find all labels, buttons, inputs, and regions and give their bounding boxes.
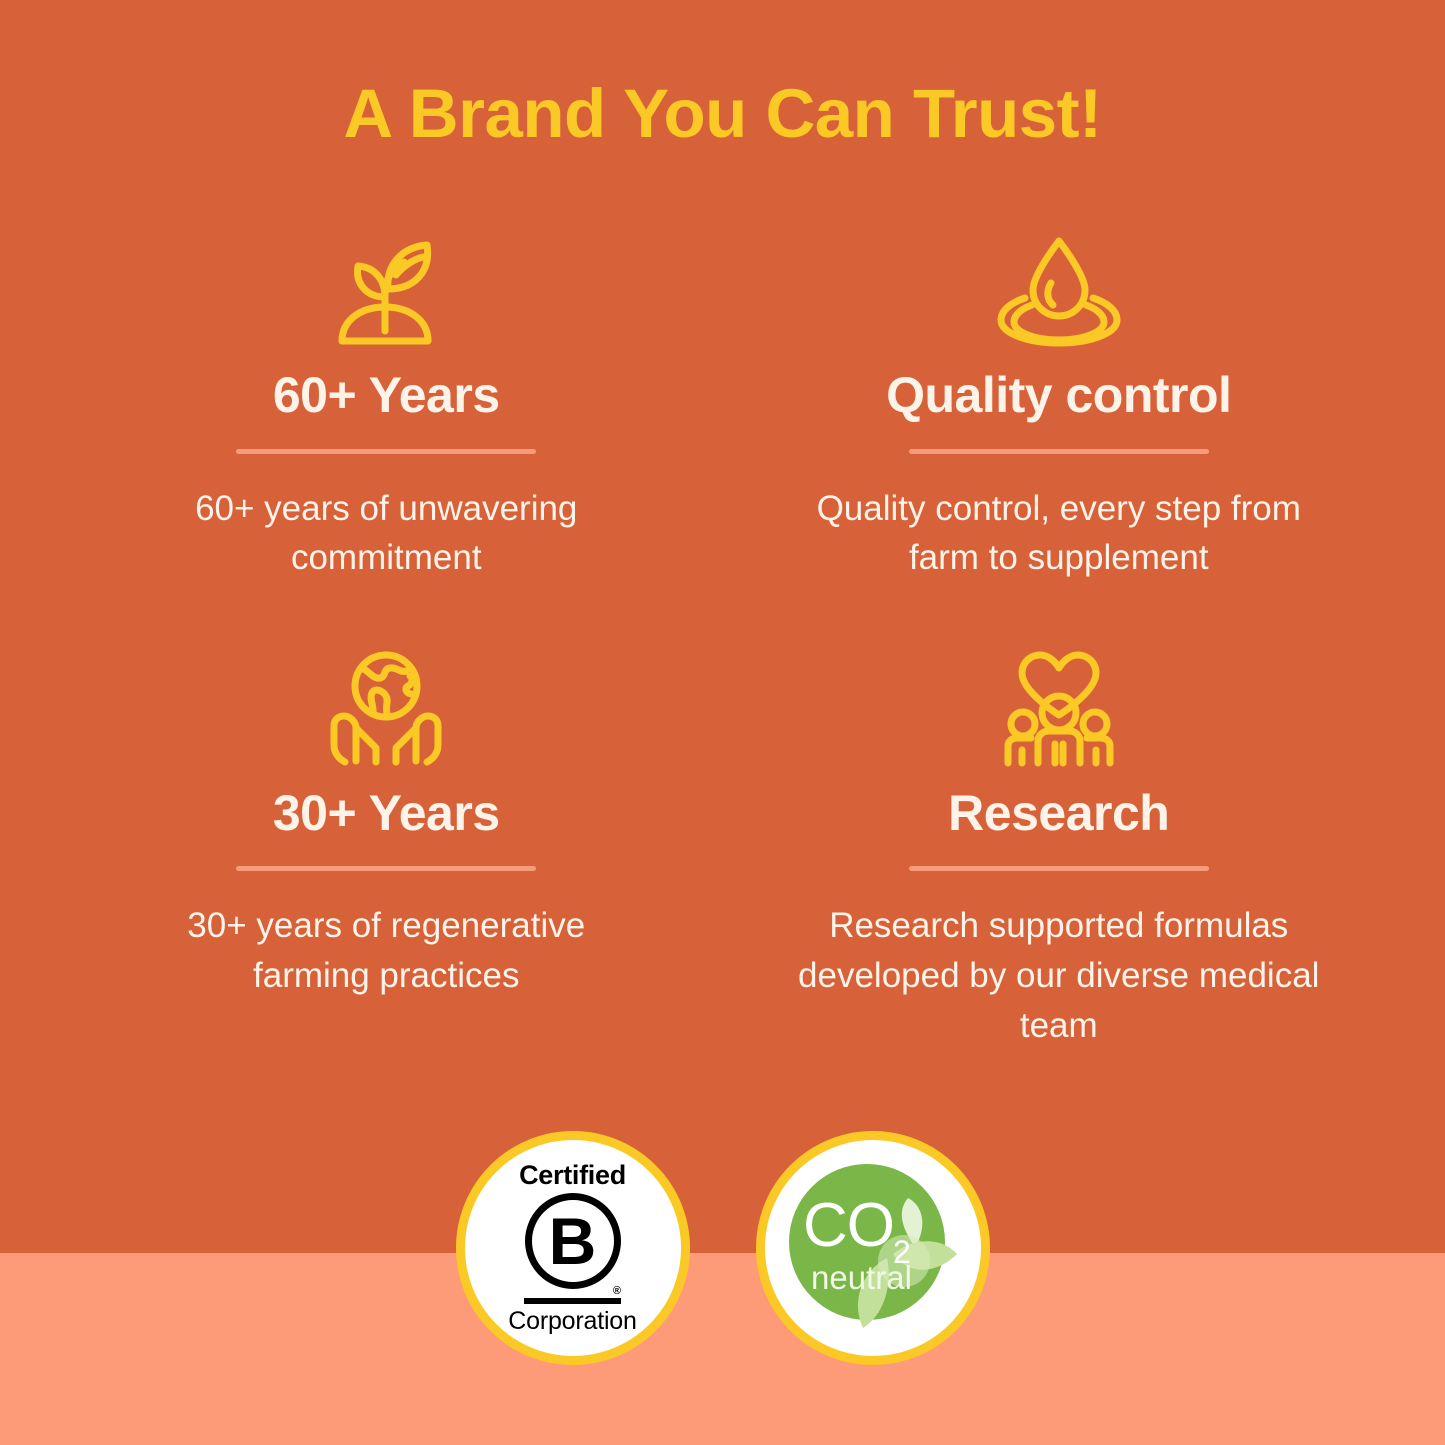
feature-title: Research — [948, 787, 1169, 840]
co2-neutral-logo: CO 2 neutral — [775, 1150, 971, 1346]
b-corp-corporation-label: Corporation — [508, 1309, 636, 1334]
b-corp-letter-b: B — [525, 1193, 621, 1289]
feature-grid: 60+ Years 60+ years of unwavering commit… — [60, 225, 1385, 1050]
sprout-icon — [330, 225, 442, 355]
title-divider — [236, 866, 536, 871]
trust-poster: A Brand You Can Trust! 60+ Years 60+ yea… — [0, 0, 1445, 1445]
page-title: A Brand You Can Trust! — [0, 74, 1445, 153]
feature-card-60-years: 60+ Years 60+ years of unwavering commit… — [60, 225, 713, 583]
feature-description: Quality control, every step from farm to… — [779, 484, 1339, 583]
feature-card-30-years: 30+ Years 30+ years of regenerative farm… — [60, 643, 713, 1051]
feature-description: Research supported formulas developed by… — [779, 901, 1339, 1050]
feature-description: 60+ years of unwavering commitment — [136, 484, 636, 583]
feature-card-quality-control: Quality control Quality control, every s… — [733, 225, 1386, 583]
title-divider — [909, 866, 1209, 871]
title-divider — [909, 449, 1209, 454]
hands-holding-globe-icon — [328, 643, 444, 773]
feature-title: 30+ Years — [273, 787, 500, 840]
b-corporation-badge[interactable]: Certified B ® Corporation — [456, 1131, 690, 1365]
registered-trademark-icon: ® — [613, 1286, 621, 1297]
certification-badges: Certified B ® Corporation — [0, 1131, 1445, 1365]
b-corp-certified-label: Certified — [519, 1162, 626, 1189]
co2-neutral-graphic: CO 2 neutral — [775, 1150, 971, 1346]
water-droplet-icon — [996, 225, 1122, 355]
feature-description: 30+ years of regenerative farming practi… — [136, 901, 636, 1000]
b-corp-logo: Certified B ® Corporation — [508, 1162, 636, 1334]
feature-card-research: Research Research supported formulas dev… — [733, 643, 1386, 1051]
feature-title: 60+ Years — [273, 369, 500, 422]
title-divider — [236, 449, 536, 454]
svg-text:CO: CO — [803, 1191, 894, 1260]
co2-neutral-badge[interactable]: CO 2 neutral — [756, 1131, 990, 1365]
feature-title: Quality control — [886, 369, 1231, 422]
heart-family-icon — [1000, 643, 1118, 773]
svg-text:neutral: neutral — [811, 1259, 912, 1296]
b-corp-rule: ® — [524, 1298, 621, 1304]
